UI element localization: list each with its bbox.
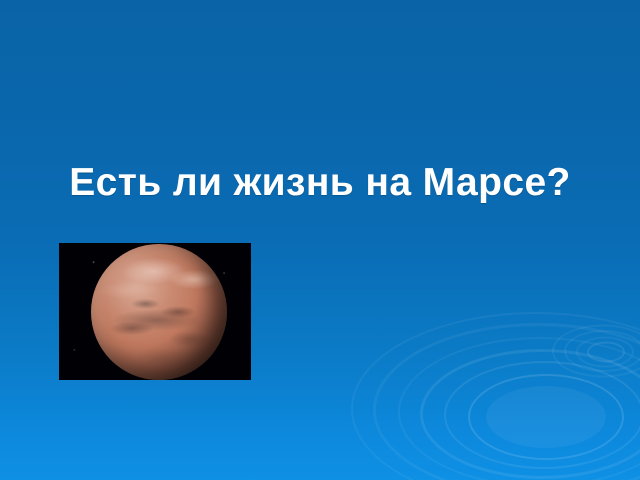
ripple-small-ring-2 — [576, 337, 634, 368]
ripple-decoration — [0, 0, 640, 480]
ripple-ring-2 — [444, 361, 640, 469]
ripple-ring-6 — [351, 312, 640, 480]
ripple-small-ring-4 — [552, 325, 640, 378]
ripple-ring-3 — [420, 349, 640, 479]
planet-limb-shading — [91, 244, 227, 380]
ripple-ring-core — [486, 386, 606, 448]
mars-planet-icon — [91, 244, 227, 380]
slide-title: Есть ли жизнь на Марсе? — [0, 160, 640, 206]
mars-image[interactable] — [59, 243, 251, 380]
presentation-slide: Есть ли жизнь на Марсе? — [0, 0, 640, 480]
ripple-ring-1 — [468, 374, 624, 460]
ripple-small-ring-1 — [587, 342, 625, 363]
ripple-ring-5 — [373, 323, 640, 480]
ripple-small-ring-3 — [564, 330, 640, 372]
ripple-ring-4 — [398, 337, 640, 480]
